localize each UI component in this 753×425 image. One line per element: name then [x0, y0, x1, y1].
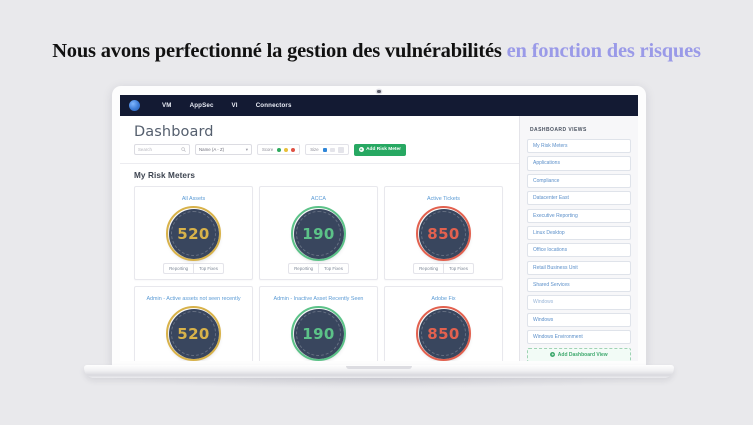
top-fixes-button[interactable]: Top Fixes — [443, 263, 474, 274]
risk-meter-actions: Reporting Top Fixes — [163, 263, 224, 274]
laptop-lid: VM AppSec VI Connectors Dashboard Search — [112, 86, 646, 368]
laptop-shadow — [114, 378, 644, 389]
risk-meter-title: Admin - Active assets not seen recently — [142, 293, 244, 307]
navbar-items: VM AppSec VI Connectors — [153, 102, 301, 109]
search-icon[interactable] — [181, 147, 186, 152]
risk-gauge: 520 — [169, 209, 219, 259]
laptop-base — [84, 365, 674, 378]
search-placeholder: Search — [138, 147, 181, 152]
sidebar-heading: DASHBOARD VIEWS — [527, 123, 631, 139]
risk-gauge: 190 — [294, 209, 344, 259]
add-risk-meter-button[interactable]: + Add Risk Meter — [354, 144, 406, 156]
nav-item-appsec[interactable]: AppSec — [181, 102, 223, 109]
risk-gauge: 850 — [419, 209, 469, 259]
sidebar-item-shared-services[interactable]: Shared Services — [527, 278, 631, 292]
risk-meter-card[interactable]: Admin - Inactive Asset Recently Seen 190… — [259, 286, 378, 362]
reporting-button[interactable]: Reporting — [163, 263, 193, 274]
sidebar-item-datacenter-east[interactable]: Datacenter East — [527, 191, 631, 205]
risk-meter-grid: All Assets 520 Reporting Top Fixes — [120, 180, 519, 362]
size-square-small[interactable] — [323, 148, 328, 153]
sidebar-item-executive-reporting[interactable]: Executive Reporting — [527, 209, 631, 223]
kenna-logo-icon[interactable] — [129, 100, 140, 111]
nav-item-connectors[interactable]: Connectors — [247, 102, 301, 109]
sidebar-item-applications[interactable]: Applications — [527, 156, 631, 170]
risk-meter-card[interactable]: ACCA 190 Reporting Top Fixes — [259, 186, 378, 280]
score-dot-yellow[interactable] — [284, 148, 288, 152]
risk-meter-actions: Reporting Top Fixes — [288, 263, 349, 274]
sidebar-item-my-risk-meters[interactable]: My Risk Meters — [527, 139, 631, 153]
risk-gauge: 190 — [294, 309, 344, 359]
search-input[interactable]: Search — [134, 144, 190, 155]
risk-meter-actions: Reporting Top Fixes — [413, 263, 474, 274]
size-square-medium[interactable] — [330, 148, 335, 153]
dashboard-toolbar: Search Name (A - Z) ▾ Score — [120, 144, 519, 156]
risk-score-value: 850 — [427, 325, 460, 343]
sidebar-item-windows-2[interactable]: Windows — [527, 313, 631, 327]
webcam-icon — [377, 90, 380, 93]
add-dashboard-view-button[interactable]: + Add Dashboard View — [527, 348, 631, 362]
section-title: My Risk Meters — [120, 164, 519, 180]
top-fixes-button[interactable]: Top Fixes — [193, 263, 224, 274]
size-square-large[interactable] — [338, 147, 344, 153]
sort-select-value: Name (A - Z) — [199, 147, 224, 152]
risk-meter-title: Admin - Inactive Asset Recently Seen — [270, 293, 368, 307]
nav-item-vi[interactable]: VI — [223, 102, 247, 109]
risk-score-value: 520 — [177, 325, 210, 343]
sidebar-item-office-locations[interactable]: Office locations — [527, 243, 631, 257]
score-dot-green[interactable] — [277, 148, 281, 152]
app-navbar: VM AppSec VI Connectors — [120, 95, 638, 116]
sidebar-item-windows-environment[interactable]: Windows Environment — [527, 330, 631, 344]
add-risk-meter-label: Add Risk Meter — [366, 147, 401, 152]
risk-meter-title: ACCA — [307, 193, 330, 207]
sidebar-item-retail-business-unit[interactable]: Retail Business Unit — [527, 261, 631, 275]
risk-meter-card[interactable]: Adobe Fix 850 Reporting Top Fixes — [384, 286, 503, 362]
plus-circle-icon: + — [550, 352, 555, 357]
risk-meter-title: Active Tickets — [423, 193, 464, 207]
app-body: Dashboard Search Name (A - Z) ▾ — [120, 116, 638, 361]
sidebar-item-windows-1[interactable]: Windows — [527, 295, 631, 309]
add-dashboard-view-label: Add Dashboard View — [558, 352, 608, 358]
risk-score-value: 850 — [427, 225, 460, 243]
laptop-screen: VM AppSec VI Connectors Dashboard Search — [120, 95, 638, 361]
top-fixes-button[interactable]: Top Fixes — [318, 263, 349, 274]
risk-meter-card[interactable]: Active Tickets 850 Reporting Top Fixes — [384, 186, 503, 280]
size-filter-label: Size — [310, 147, 318, 152]
risk-meter-title: All Assets — [178, 193, 209, 207]
risk-gauge: 850 — [419, 309, 469, 359]
reporting-button[interactable]: Reporting — [288, 263, 318, 274]
risk-score-value: 190 — [302, 225, 335, 243]
page-headline: Nous avons perfectionné la gestion des v… — [0, 40, 753, 63]
headline-main-text: Nous avons perfectionné la gestion des v… — [52, 40, 506, 62]
plus-circle-icon: + — [359, 147, 364, 152]
score-dot-red[interactable] — [291, 148, 295, 152]
laptop-mockup: VM AppSec VI Connectors Dashboard Search — [84, 86, 674, 378]
sidebar-item-linux-desktop[interactable]: Linux Desktop — [527, 226, 631, 240]
nav-item-vm[interactable]: VM — [153, 102, 181, 109]
page-title: Dashboard — [120, 116, 519, 144]
risk-meter-card[interactable]: All Assets 520 Reporting Top Fixes — [134, 186, 253, 280]
main-content: Dashboard Search Name (A - Z) ▾ — [120, 116, 519, 361]
reporting-button[interactable]: Reporting — [413, 263, 443, 274]
risk-gauge: 520 — [169, 309, 219, 359]
risk-meter-title: Adobe Fix — [427, 293, 459, 307]
chevron-down-icon: ▾ — [246, 147, 248, 153]
dashboard-views-sidebar: DASHBOARD VIEWS My Risk Meters Applicati… — [519, 116, 638, 361]
score-filter[interactable]: Score — [257, 144, 300, 155]
sidebar-item-compliance[interactable]: Compliance — [527, 174, 631, 188]
sort-select[interactable]: Name (A - Z) ▾ — [195, 144, 252, 155]
score-filter-label: Score — [262, 147, 273, 152]
risk-score-value: 190 — [302, 325, 335, 343]
risk-meter-card[interactable]: Admin - Active assets not seen recently … — [134, 286, 253, 362]
headline-accent-text: en fonction des risques — [507, 40, 701, 62]
risk-score-value: 520 — [177, 225, 210, 243]
size-filter[interactable]: Size — [305, 144, 348, 155]
